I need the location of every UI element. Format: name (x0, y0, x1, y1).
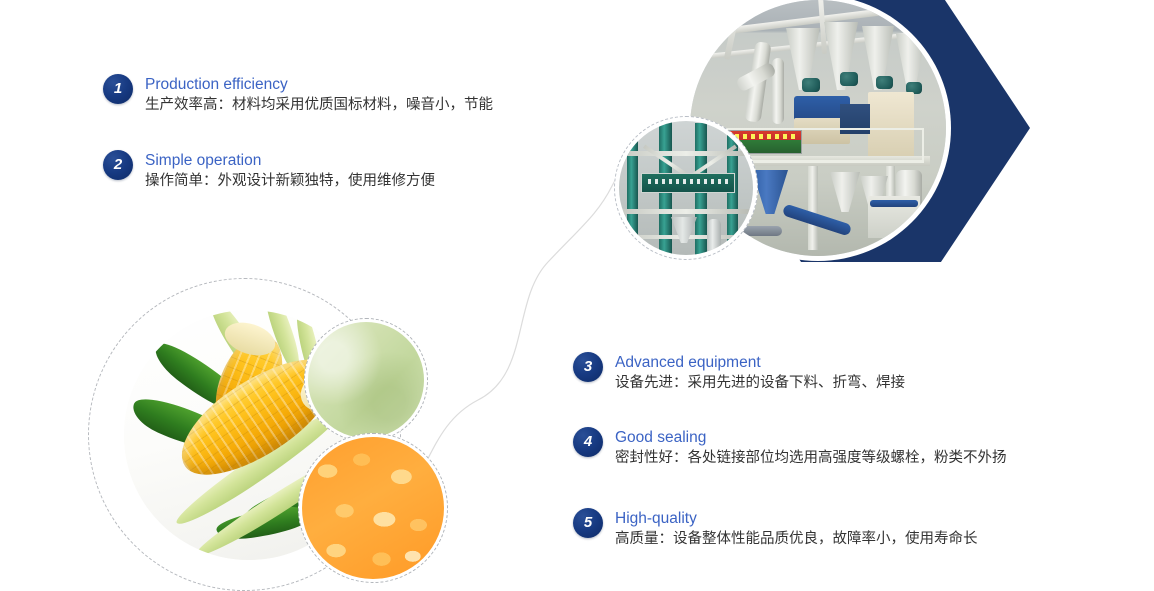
feature-item-1: 1 Production efficiency 生产效率高：材料均采用优质国标材… (103, 74, 493, 116)
feature-number-badge: 4 (573, 427, 603, 457)
feature-item-5: 5 High-quality 高质量：设备整体性能品质优良，故障率小，使用寿命长 (573, 508, 978, 550)
feature-text-block: Production efficiency 生产效率高：材料均采用优质国标材料，… (145, 74, 493, 116)
feature-title: Advanced equipment (615, 353, 905, 372)
feature-item-4: 4 Good sealing 密封性好：各处链接部位均选用高强度等级螺栓，粉类不… (573, 427, 1007, 469)
feature-title: High-quality (615, 509, 978, 528)
feature-description: 生产效率高：材料均采用优质国标材料，噪音小，节能 (145, 95, 493, 116)
feature-description: 设备先进：采用先进的设备下料、折弯、焊接 (615, 373, 905, 394)
feature-number-badge: 1 (103, 74, 133, 104)
top-right-media-group (672, 0, 1072, 274)
feature-title: Good sealing (615, 428, 1007, 447)
green-machinery-photo (614, 116, 758, 260)
corn-paste-photo (304, 318, 428, 442)
corn-grits-photo (298, 433, 448, 583)
feature-text-block: Advanced equipment 设备先进：采用先进的设备下料、折弯、焊接 (615, 352, 905, 394)
feature-description: 操作简单：外观设计新颖独特，使用维修方便 (145, 171, 435, 192)
feature-description: 密封性好：各处链接部位均选用高强度等级螺栓，粉类不外扬 (615, 448, 1007, 469)
feature-text-block: Good sealing 密封性好：各处链接部位均选用高强度等级螺栓，粉类不外扬 (615, 427, 1007, 469)
feature-title: Simple operation (145, 151, 435, 170)
infographic-canvas: 1 Production efficiency 生产效率高：材料均采用优质国标材… (0, 0, 1154, 591)
feature-item-2: 2 Simple operation 操作简单：外观设计新颖独特，使用维修方便 (103, 150, 435, 192)
feature-item-3: 3 Advanced equipment 设备先进：采用先进的设备下料、折弯、焊… (573, 352, 905, 394)
machine-label-band (641, 173, 735, 193)
feature-title: Production efficiency (145, 75, 493, 94)
bottom-left-media-group (88, 278, 488, 591)
feature-description: 高质量：设备整体性能品质优良，故障率小，使用寿命长 (615, 529, 978, 550)
feature-number-badge: 2 (103, 150, 133, 180)
feature-number-badge: 3 (573, 352, 603, 382)
feature-text-block: Simple operation 操作简单：外观设计新颖独特，使用维修方便 (145, 150, 435, 192)
feature-text-block: High-quality 高质量：设备整体性能品质优良，故障率小，使用寿命长 (615, 508, 978, 550)
feature-number-badge: 5 (573, 508, 603, 538)
